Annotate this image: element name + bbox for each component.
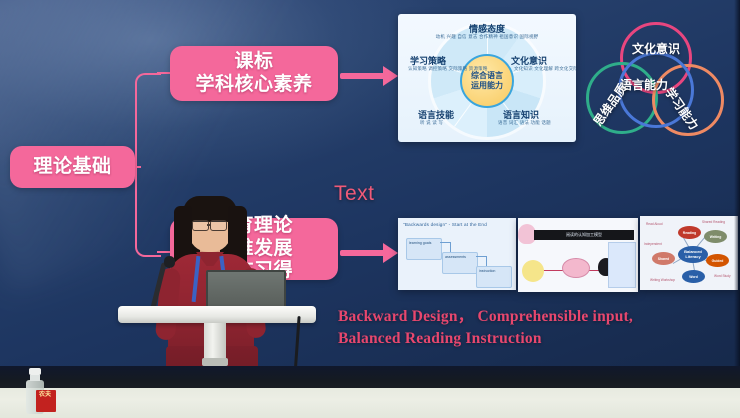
flow-step-1: learning goals (406, 238, 442, 260)
literacy-node-label: Reading (683, 231, 696, 235)
flow-step-2: assessments (442, 252, 478, 274)
caption-line-2: Balanced Reading Instruction (338, 328, 730, 350)
podium-stem-joint (202, 358, 228, 366)
glasses-right-lens (210, 220, 227, 231)
branch-1-line-2: 学科核心素养 (195, 74, 312, 96)
flow-step-3: instruction (476, 266, 512, 288)
brain-title-bar: 阅读的认知加工模型 (534, 230, 634, 240)
venn-diagram: 文化意识 语言能力 思维品质 学习能力 (580, 18, 732, 146)
slide-caption: Backward Design， Comprehensible input, B… (338, 306, 730, 350)
side-panel (608, 242, 636, 288)
mindmap-root-label: 理论基础 (33, 156, 111, 178)
mindmap-branch-1-node: 课标 学科核心素养 (170, 46, 338, 101)
wheel-sub-culture: 文化知识 文化理解 跨文化交际意识和能力 (514, 66, 576, 72)
literacy-node-reading: Reading (678, 226, 701, 239)
foreground-table (0, 388, 740, 418)
water-bottle: 农夫 (24, 368, 46, 414)
caption-line-1: Backward Design， Comprehensible input, (338, 306, 730, 328)
flow-step-1-text: learning goals (409, 241, 431, 246)
wheel-center-line-1: 综合语言 (471, 71, 503, 81)
microphone-head (164, 256, 175, 268)
wheel-sub-skills: 听 说 读 写 (420, 120, 443, 126)
thumbnail-balanced-literacy: Reading Writing Shared Guided Word Balan… (640, 216, 738, 290)
wheel-sub-affect: 动机 兴趣 自信 意志 合作精神 祖国意识 国际视野 (436, 34, 539, 40)
bottle-label-text: 农夫 (39, 392, 51, 399)
bottle-neck (30, 375, 40, 381)
literacy-tag: Independent (644, 242, 662, 246)
literacy-node-label: Word (689, 275, 698, 279)
podium-top-surface (118, 306, 316, 323)
mindmap-root-node: 理论基础 (10, 146, 135, 188)
backward-design-title: "Backwards design" - Start at the End (403, 222, 512, 227)
literacy-node-label: Shared (658, 257, 670, 261)
wheel-sub-knowledge: 语音 词汇 语法 功能 话题 (498, 120, 551, 126)
wheel-center-line-2: 运用能力 (471, 81, 503, 91)
presentation-photo: 理论基础 课标 学科核心素养 教育理论 思维发展 语言习得 Text (0, 0, 740, 418)
arrow-head (383, 66, 398, 86)
text-annotation: Text (334, 182, 375, 206)
screen-right-edge (734, 0, 740, 372)
literacy-tag: Shared Reading (702, 220, 725, 224)
literacy-node-shared: Shared (652, 252, 675, 265)
branch-1-line-1: 课标 (195, 51, 312, 73)
literacy-tag: Word Study (714, 274, 731, 278)
flow-step-2-text: assessments (445, 255, 466, 260)
thumbnail-brain-model: 阅读的认知加工模型 (518, 218, 638, 292)
literacy-tag: Read Aloud (646, 222, 662, 226)
wheel-center-hub: 综合语言 运用能力 (460, 54, 514, 108)
flow-step-3-text: instruction (479, 269, 495, 274)
glasses-left-lens (192, 220, 209, 231)
bottle-label: 农夫 (36, 390, 56, 412)
arrow-head (383, 243, 398, 263)
sun-shape (522, 260, 544, 282)
literacy-node-writing: Writing (704, 230, 727, 243)
projection-screen: 理论基础 课标 学科核心素养 教育理论 思维发展 语言习得 Text (0, 0, 740, 372)
literacy-hub: Balanced Literacy (678, 246, 708, 263)
thumbnail-backward-design: "Backwards design" - Start at the End le… (398, 218, 516, 290)
literacy-node-label: Guided (712, 259, 724, 263)
arrow-shaft (340, 73, 386, 79)
wheel-sub-strategy: 认知策略 调控策略 交际策略 资源策略 (408, 66, 488, 72)
literacy-node-label: Writing (710, 235, 722, 239)
literacy-node-word: Word (682, 270, 705, 283)
literacy-tag: Writing Workshop (650, 278, 675, 282)
literacy-hub-line-2: Literacy (685, 254, 700, 259)
brain-title-text: 阅读的认知加工模型 (566, 232, 602, 238)
brain-icon (562, 258, 590, 278)
competence-wheel-image: 综合语言 运用能力 情感态度 动机 兴趣 自信 意志 合作精神 祖国意识 国际视… (398, 14, 576, 142)
glasses-bridge (207, 224, 211, 226)
venn-label-culture: 文化意识 (632, 40, 680, 57)
bottle-cap (29, 368, 41, 375)
arrow-shaft (340, 250, 386, 256)
literacy-node-guided: Guided (706, 254, 729, 267)
